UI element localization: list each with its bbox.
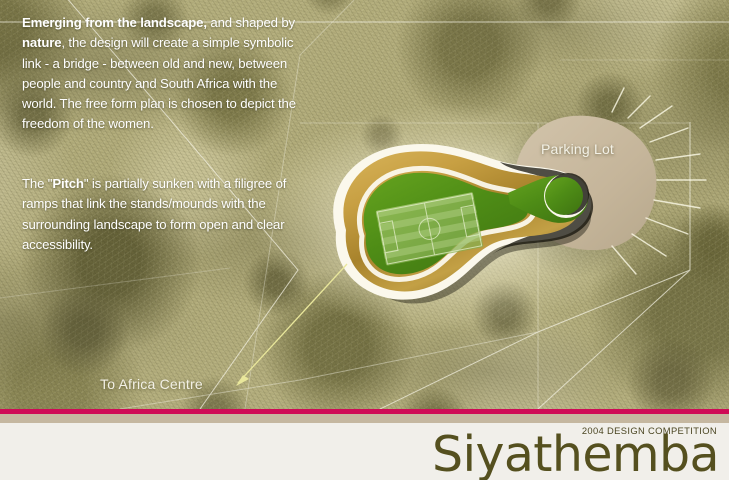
map-label-to-africa-centre: To Africa Centre <box>100 376 203 392</box>
link-terminus-green <box>545 177 583 215</box>
footer-bar: 2004 DESIGN COMPETITION Siyathemba <box>0 423 729 480</box>
map-label-parking-lot: Parking Lot <box>541 141 614 157</box>
connector-arrowhead <box>236 375 249 386</box>
presentation-board: Emerging from the landscape, and shaped … <box>0 0 729 480</box>
aerial-site-photo: Emerging from the landscape, and shaped … <box>0 0 729 409</box>
paragraph1-mid: and shaped by <box>207 15 295 30</box>
project-title: Siyathemba <box>432 429 719 480</box>
paragraph1-bold-nature: nature <box>22 35 61 50</box>
paragraph1-rest: , the design will create a simple symbol… <box>22 35 296 131</box>
paragraph2-pre: The " <box>22 176 52 191</box>
accent-band-tan <box>0 414 729 423</box>
connector-node <box>343 258 352 267</box>
paragraph1-lead: Emerging from the landscape, <box>22 15 207 30</box>
description-paragraph-1: Emerging from the landscape, and shaped … <box>22 13 298 135</box>
description-paragraph-2: The "Pitch" is partially sunken with a f… <box>22 174 298 255</box>
paragraph2-bold-pitch: Pitch <box>52 176 84 191</box>
